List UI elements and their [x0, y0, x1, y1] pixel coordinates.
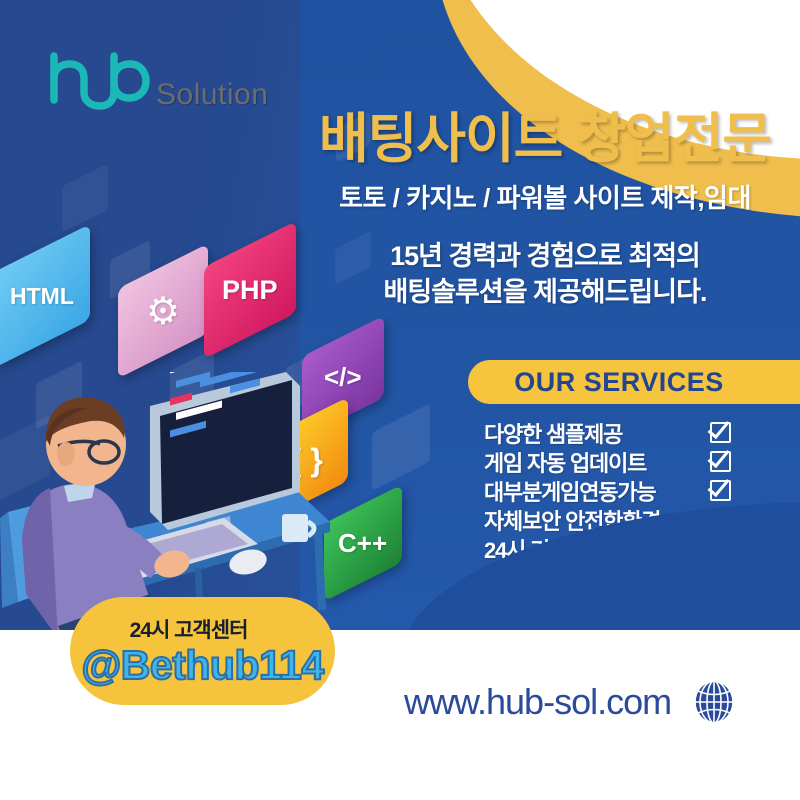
- service-item-label: 대부분게임연동가능: [484, 475, 655, 507]
- headline-description-line-2: 배팅솔루션을 제공해드립니다.: [310, 275, 780, 311]
- customer-center-label: 24시 고객센터: [130, 614, 248, 644]
- service-item: 대부분게임연동가능: [484, 476, 734, 505]
- headline-subtitle: 토토 / 카지노 / 파워볼 사이트 제작,임대: [310, 178, 780, 215]
- hub-wordmark-icon: [42, 48, 154, 118]
- contact-pill[interactable]: 24시 고객센터 @Bethub114: [70, 597, 335, 705]
- service-item: 다양한 샘플제공: [484, 418, 734, 447]
- services-banner-label: OUR SERVICES: [514, 367, 724, 398]
- service-item-label: 다양한 샘플제공: [484, 417, 622, 449]
- services-banner: OUR SERVICES: [468, 360, 800, 404]
- page-title: 배팅사이트 창업전문: [310, 110, 780, 168]
- brand-logo: Solution: [42, 48, 268, 118]
- service-item: 게임 자동 업데이트: [484, 447, 734, 476]
- logo-suffix-text: Solution: [156, 78, 268, 112]
- headline-description-line-1: 15년 경력과 경험으로 최적의: [310, 239, 780, 275]
- checkmark-icon: [710, 421, 734, 445]
- tech-cube-label: HTML: [10, 283, 74, 310]
- promotional-banner: Solution HTML ⚙ PHP </> { } C++: [0, 0, 800, 800]
- hub-logo-mark: [42, 48, 154, 118]
- globe-icon: [693, 679, 735, 725]
- gear-icon: ⚙: [146, 289, 180, 334]
- service-item-label: 게임 자동 업데이트: [484, 446, 646, 478]
- checkmark-icon: [710, 450, 734, 474]
- messenger-id[interactable]: @Bethub114: [81, 642, 323, 689]
- tech-cube-label: C++: [338, 528, 387, 559]
- tech-cube-php: PHP: [204, 244, 296, 336]
- website-url[interactable]: www.hub-sol.com: [404, 681, 671, 723]
- tech-cube-cpp: C++: [324, 504, 402, 582]
- headline-block: 배팅사이트 창업전문 토토 / 카지노 / 파워볼 사이트 제작,임대 15년 …: [310, 110, 780, 311]
- tech-cube-gears: ⚙: [118, 266, 208, 356]
- tech-cube-label: PHP: [222, 275, 278, 306]
- checkmark-icon: [710, 479, 734, 503]
- headline-description: 15년 경력과 경험으로 최적의 배팅솔루션을 제공해드립니다.: [310, 239, 780, 311]
- tech-cube-html: HTML: [0, 248, 90, 344]
- website-block[interactable]: www.hub-sol.com: [404, 679, 735, 725]
